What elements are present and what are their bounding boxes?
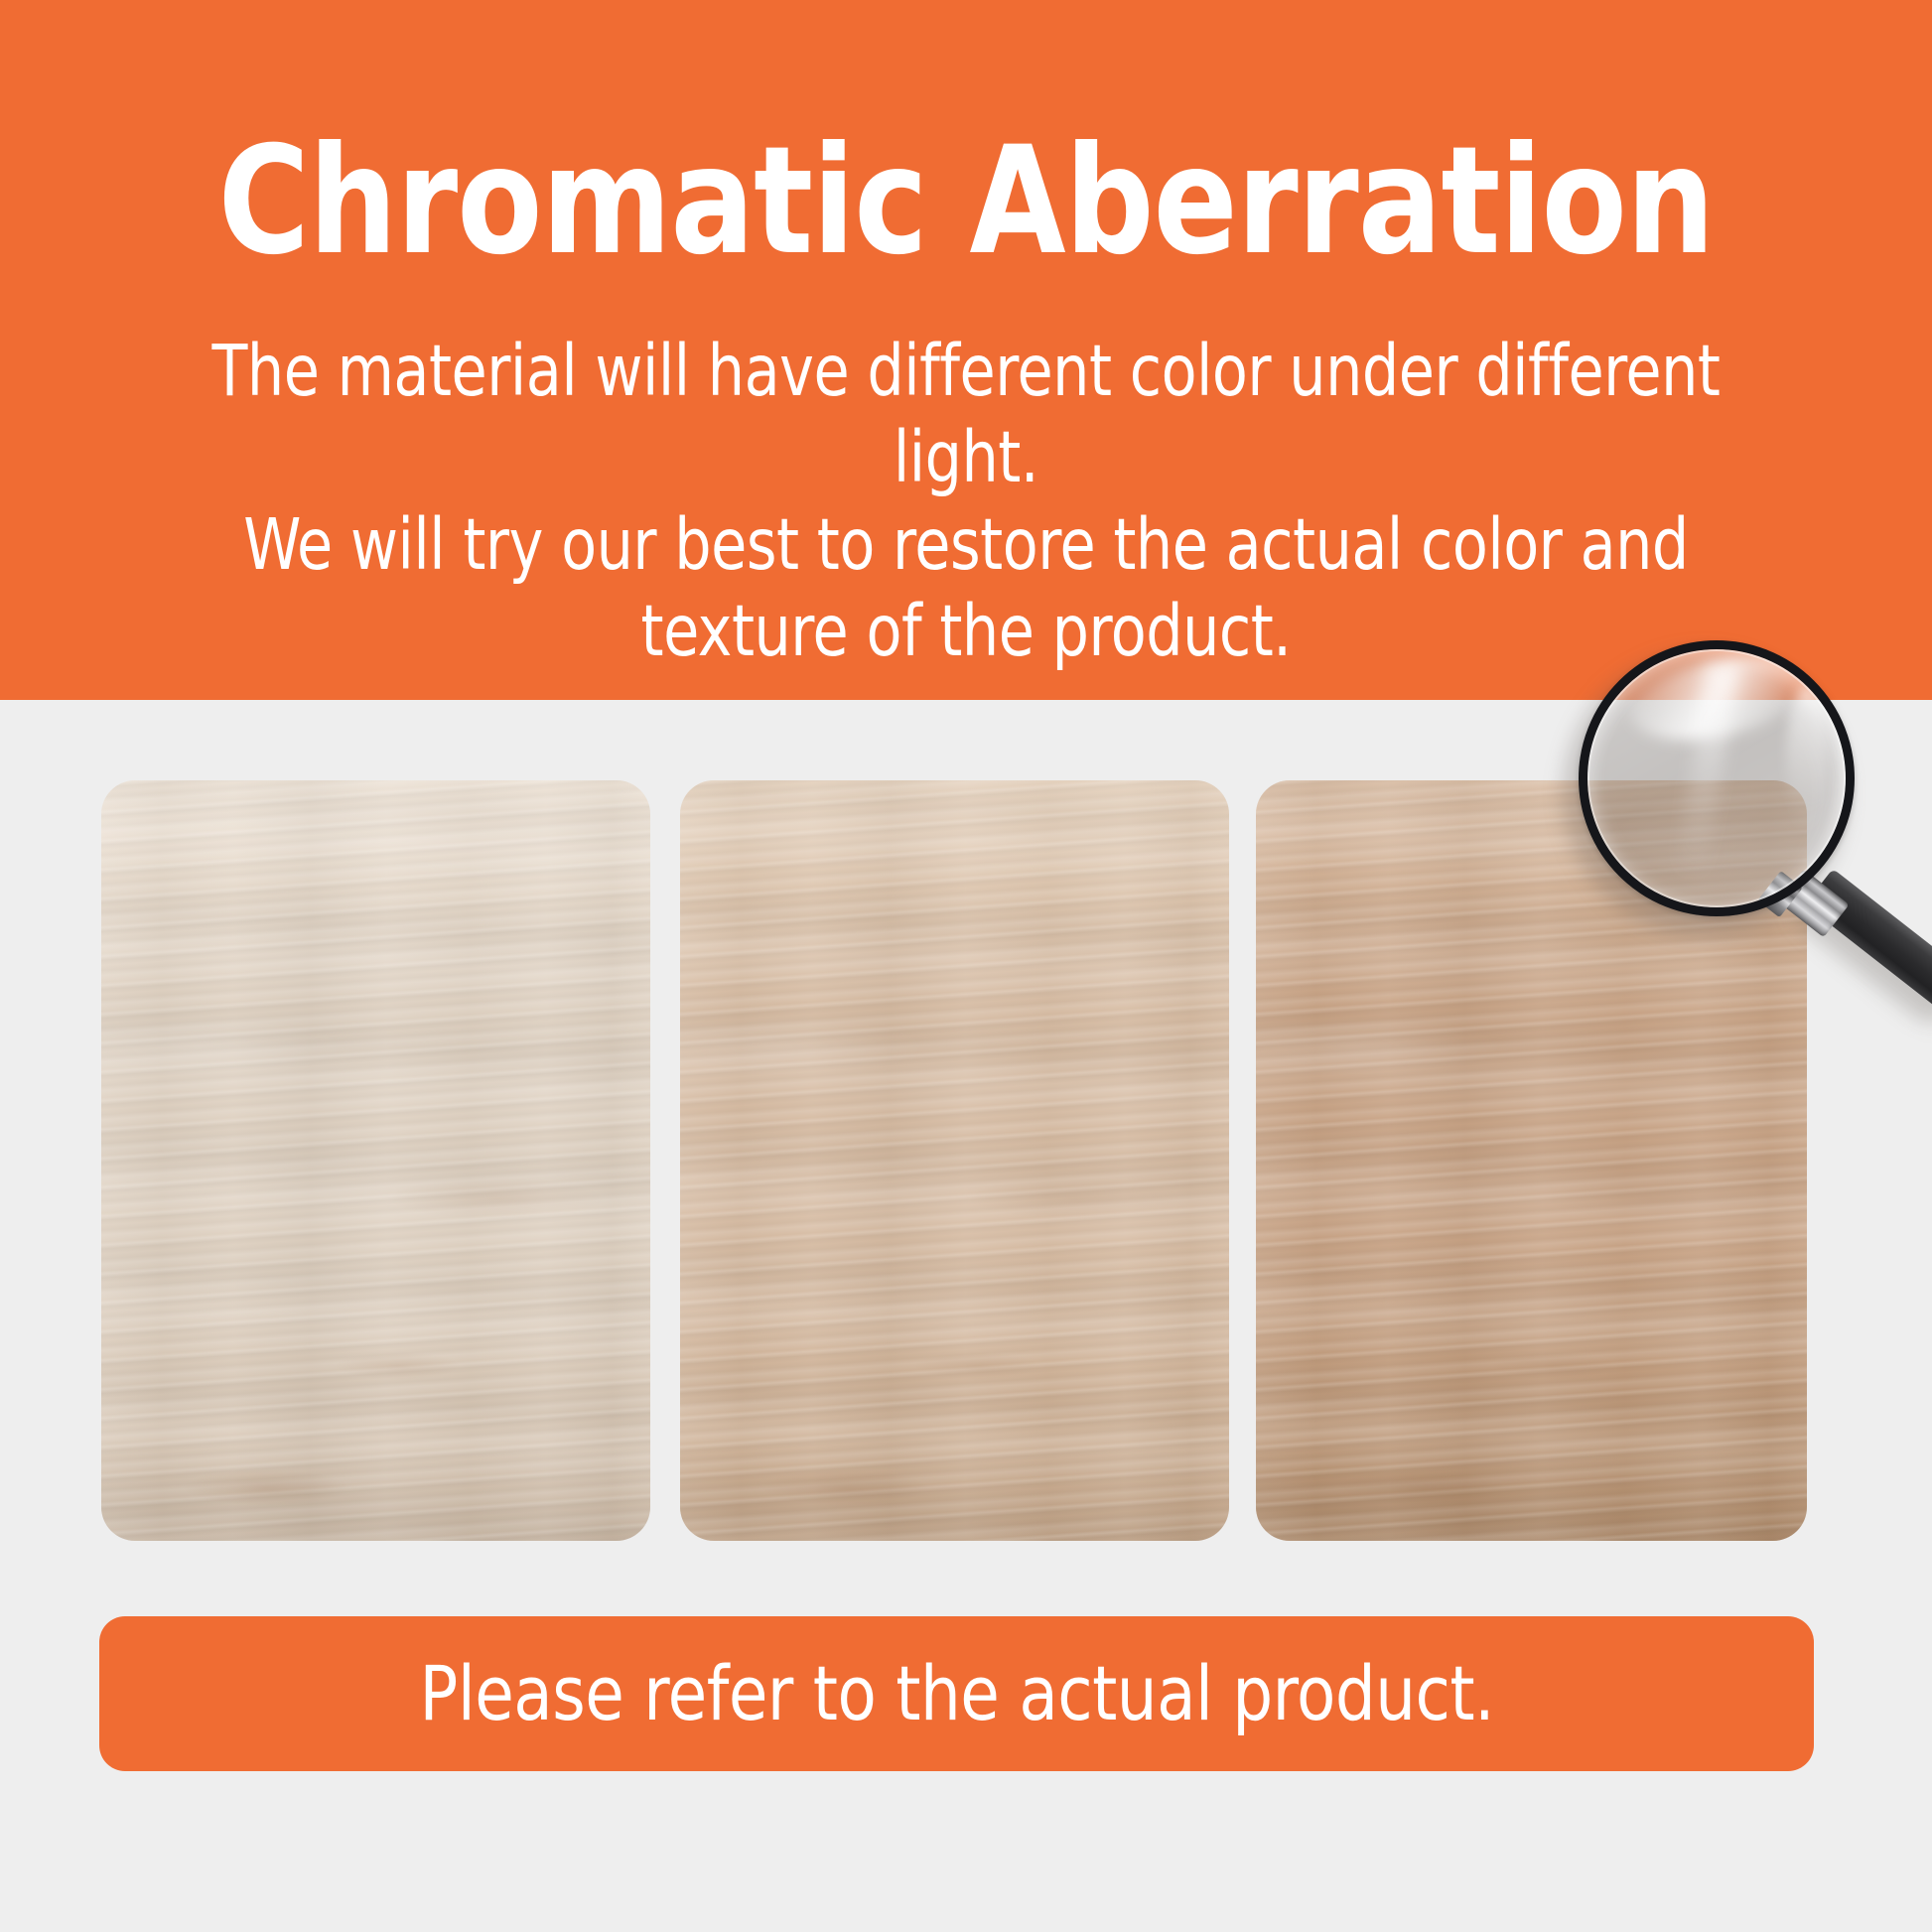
magnifying-glass-icon	[1549, 618, 1932, 1015]
promo-card: Chromatic Aberration The material will h…	[0, 0, 1932, 1932]
header-subtitle: The material will have different color u…	[187, 328, 1745, 674]
header-banner: Chromatic Aberration The material will h…	[0, 0, 1932, 700]
magnifier-lens	[1579, 640, 1855, 916]
swatch-vignette	[101, 780, 650, 1541]
subtitle-line-2: We will try our best to restore the actu…	[187, 501, 1745, 588]
wood-swatch-light[interactable]	[101, 780, 650, 1541]
lens-inner-rim	[1587, 649, 1846, 907]
wood-swatch-medium[interactable]	[680, 780, 1229, 1541]
swatch-vignette	[680, 780, 1229, 1541]
refer-to-actual-product-banner[interactable]: Please refer to the actual product.	[99, 1616, 1814, 1771]
subtitle-line-1: The material will have different color u…	[187, 328, 1745, 501]
page-title: Chromatic Aberration	[68, 127, 1864, 276]
refer-to-actual-product-label: Please refer to the actual product.	[419, 1656, 1493, 1731]
subtitle-line-3: texture of the product.	[187, 588, 1745, 674]
